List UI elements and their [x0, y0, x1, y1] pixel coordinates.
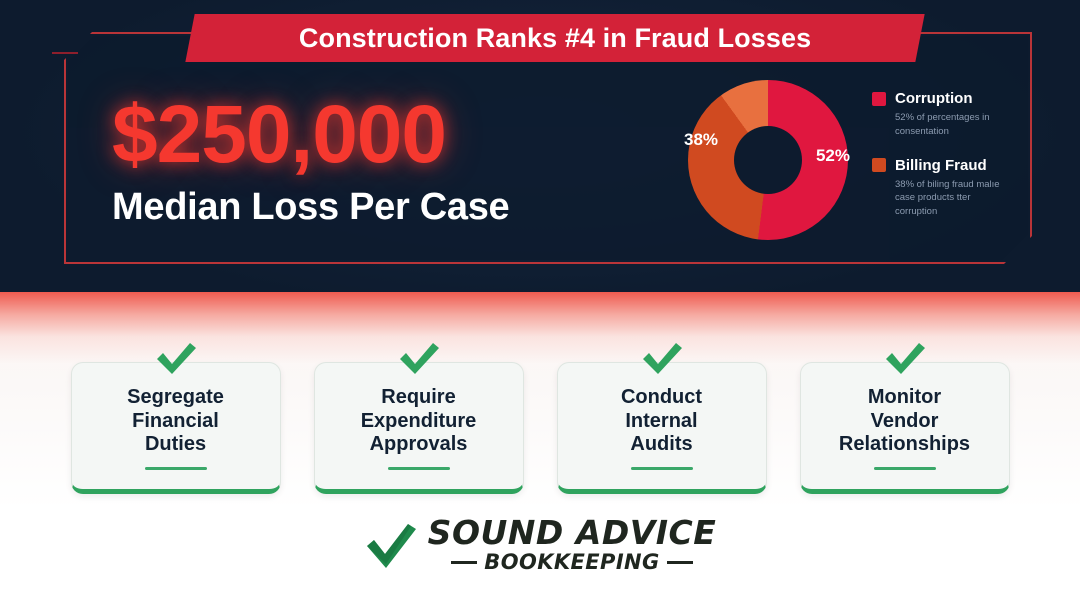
check-icon: [883, 342, 927, 376]
logo-secondary-text: BOOKKEEPING: [484, 552, 659, 573]
prevention-card[interactable]: ConductInternalAudits: [557, 362, 767, 494]
legend-swatch-corruption: [872, 92, 886, 106]
card-underline: [631, 467, 693, 470]
prevention-card-text: RequireExpenditureApprovals: [353, 386, 485, 456]
legend-item-billing-fraud: Billing Fraud 38% of biling fraud malıe …: [872, 157, 1012, 219]
prevention-card[interactable]: MonitorVendorRelationships: [800, 362, 1010, 494]
legend-label-corruption: Corruption: [895, 90, 972, 107]
legend-swatch-billing-fraud: [872, 158, 886, 172]
prevention-tips-cards: SegregateFinancialDutiesRequireExpenditu…: [0, 362, 1080, 502]
legend-item-corruption: Corruption 52% of percentages in consent…: [872, 90, 1012, 139]
title-banner: Construction Ranks #4 in Fraud Losses: [185, 14, 924, 62]
prevention-card-text: ConductInternalAudits: [613, 386, 710, 456]
donut-label-billing-fraud: 38%: [684, 130, 718, 150]
brand-logo: SOUND ADVICE BOOKKEEPING: [0, 516, 1080, 573]
fraud-type-donut-chart: 52% 38%: [688, 80, 848, 240]
card-underline: [388, 467, 450, 470]
card-underline: [145, 467, 207, 470]
logo-dash-right: [667, 561, 693, 564]
infographic-page: Construction Ranks #4 in Fraud Losses $2…: [0, 0, 1080, 603]
prevention-card[interactable]: SegregateFinancialDuties: [71, 362, 281, 494]
prevention-card-text: MonitorVendorRelationships: [831, 386, 978, 456]
prevention-card[interactable]: RequireExpenditureApprovals: [314, 362, 524, 494]
check-icon: [640, 342, 684, 376]
median-loss-value: $250,000: [112, 94, 509, 176]
card-underline: [874, 467, 936, 470]
legend-label-billing-fraud: Billing Fraud: [895, 157, 987, 174]
banner-tick-decoration: [52, 52, 78, 54]
logo-checkmark-icon: [364, 522, 418, 570]
hero-section: Construction Ranks #4 in Fraud Losses $2…: [0, 0, 1080, 292]
donut-hole: [734, 126, 802, 194]
chart-legend: Corruption 52% of percentages in consent…: [872, 90, 1012, 237]
check-icon: [397, 342, 441, 376]
logo-primary-text: SOUND ADVICE: [428, 516, 717, 549]
logo-dash-left: [451, 561, 477, 564]
median-loss-label: Median Loss Per Case: [112, 186, 509, 229]
check-icon: [154, 342, 198, 376]
legend-desc-billing-fraud: 38% of biling fraud malıe case products …: [895, 178, 1012, 219]
donut-label-corruption: 52%: [816, 146, 850, 166]
legend-desc-corruption: 52% of percentages in consentation: [895, 111, 1012, 139]
headline-group: $250,000 Median Loss Per Case: [112, 94, 509, 229]
prevention-card-text: SegregateFinancialDuties: [119, 386, 232, 456]
page-title: Construction Ranks #4 in Fraud Losses: [299, 23, 811, 54]
